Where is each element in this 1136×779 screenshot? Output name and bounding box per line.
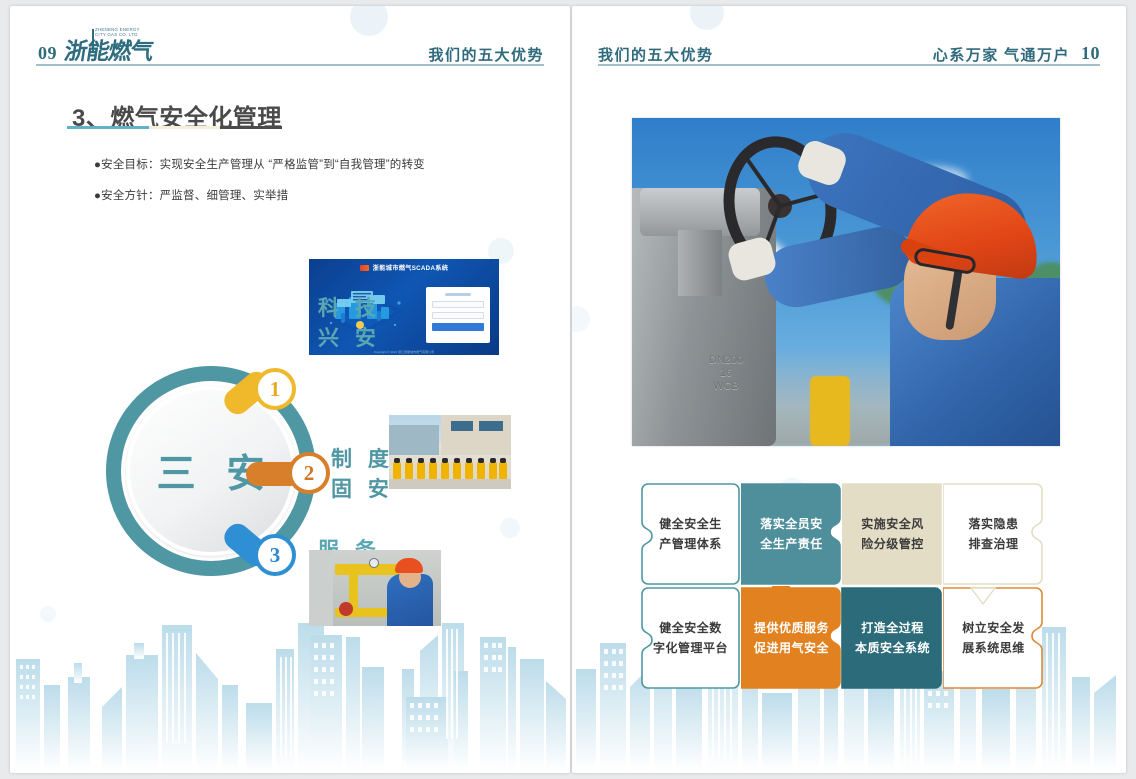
underline-segment-dark — [220, 126, 282, 129]
valve-knob — [339, 602, 353, 616]
scooter — [429, 462, 437, 479]
logo-chinese: 浙能燃气 — [62, 32, 155, 66]
flow-piece-label: 树立安全发 展系统思维 — [943, 586, 1044, 690]
company-logo: ZHENENG ENERGY CITY GAS CO. LTD 浙能燃气 — [65, 30, 157, 64]
brochure-spread: 09 ZHENENG ENERGY CITY GAS CO. LTD 浙能燃气 … — [0, 0, 1136, 779]
bullet-safety-goal: ●安全目标：实现安全生产管理从 “严格监管”到“自我管理”的转变 — [94, 156, 425, 172]
scooter — [405, 462, 413, 479]
flow-piece-label: 实施安全风 险分级管控 — [842, 482, 943, 586]
bg-blob — [572, 306, 590, 332]
scada-login-form[interactable] — [426, 287, 490, 343]
title-underline — [67, 126, 282, 129]
right-page-number: 10 — [1081, 43, 1100, 64]
password-field[interactable] — [432, 312, 484, 319]
flow-piece-label: 健全安全数 字化管理平台 — [640, 586, 741, 690]
flow-piece-label: 提供优质服务 促进用气安全 — [741, 586, 842, 690]
gas-pipe-horizontal — [335, 564, 401, 575]
left-page-header: 09 ZHENENG ENERGY CITY GAS CO. LTD 浙能燃气 … — [10, 6, 570, 78]
right-header-title: 我们的五大优势 — [598, 44, 714, 65]
right-page-header: 我们的五大优势 心系万家 气通万户 10 — [572, 6, 1126, 78]
city-skyline-watermark — [10, 623, 570, 773]
diagram-node-1[interactable]: 1 — [254, 368, 296, 410]
flow-piece-r1c1[interactable]: 健全安全生 产管理体系 — [640, 482, 741, 586]
flow-piece-r1c3[interactable]: 实施安全风 险分级管控 — [842, 482, 943, 586]
scooter — [489, 462, 497, 479]
yellow-equipment — [810, 376, 850, 446]
underline-segment-cream — [149, 126, 220, 129]
scooter — [417, 462, 425, 479]
flow-piece-r2c3[interactable]: 打造全过程 本质安全系统 — [842, 586, 943, 690]
left-page: 09 ZHENENG ENERGY CITY GAS CO. LTD 浙能燃气 … — [10, 6, 570, 773]
gauge — [369, 558, 379, 568]
left-header-title: 我们的五大优势 — [428, 44, 544, 65]
diagram-label-1: 科 技 兴 安 — [318, 294, 381, 354]
flow-piece-label: 落实隐患 排查治理 — [943, 482, 1044, 586]
left-page-number: 09 — [38, 43, 57, 64]
flow-piece-label: 打造全过程 本质安全系统 — [842, 586, 943, 690]
username-field[interactable] — [432, 301, 484, 308]
bg-blob — [500, 518, 520, 538]
building-window — [479, 421, 503, 431]
diagram-label-2: 制 度 固 安 — [331, 445, 394, 505]
flow-piece-r2c1[interactable]: 健全安全数 字化管理平台 — [640, 586, 741, 690]
scada-title-bar: 浙能城市燃气SCADA系统 — [309, 259, 499, 276]
flow-piece-r2c4[interactable]: 树立安全发 展系统思维 — [943, 586, 1044, 690]
pipe-inspection-photo — [309, 550, 441, 626]
safety-framework-flow: 健全安全生 产管理体系 落实全员安 全生产责任 实施安全风 险分级管控 落实隐患… — [640, 482, 1055, 694]
main-photo-worker-valve: DN20016WCB — [632, 118, 1060, 446]
thumbnail-service-scooters[interactable] — [389, 415, 511, 489]
orange-helmet-icon — [395, 558, 423, 573]
underline-segment-teal — [67, 126, 149, 129]
bullet-safety-policy: ●安全方针：严监督、细管理、实举措 — [94, 187, 288, 203]
diagram-node-3[interactable]: 3 — [254, 534, 296, 576]
login-form-title — [445, 293, 471, 296]
flow-piece-label: 健全安全生 产管理体系 — [640, 482, 741, 586]
company-slogan: 心系万家 气通万户 — [933, 44, 1070, 65]
scada-logo-icon — [360, 265, 369, 271]
flow-piece-r1c2[interactable]: 落实全员安 全生产责任 — [741, 482, 842, 586]
flow-piece-r1c4[interactable]: 落实隐患 排查治理 — [943, 482, 1044, 586]
scooter — [453, 462, 461, 479]
flow-piece-label: 落实全员安 全生产责任 — [741, 482, 842, 586]
building-window — [451, 421, 473, 431]
login-button[interactable] — [432, 323, 484, 331]
thumbnail-pipe-inspection[interactable] — [309, 550, 441, 626]
ground — [389, 479, 511, 489]
wall — [309, 550, 333, 626]
flow-piece-r2c2[interactable]: 提供优质服务 促进用气安全 — [741, 586, 842, 690]
scooter — [465, 462, 473, 479]
scada-title: 浙能城市燃气SCADA系统 — [373, 263, 448, 272]
scooters-photo — [389, 415, 511, 489]
scooter — [477, 462, 485, 479]
scooter — [499, 462, 507, 479]
building-left — [389, 425, 439, 455]
valve-neck — [678, 230, 722, 296]
scooter — [393, 462, 401, 479]
scooter — [441, 462, 449, 479]
diagram-node-2[interactable]: 2 — [288, 452, 330, 494]
valve-marking: DN20016WCB — [680, 354, 772, 393]
bg-blob — [40, 606, 56, 622]
